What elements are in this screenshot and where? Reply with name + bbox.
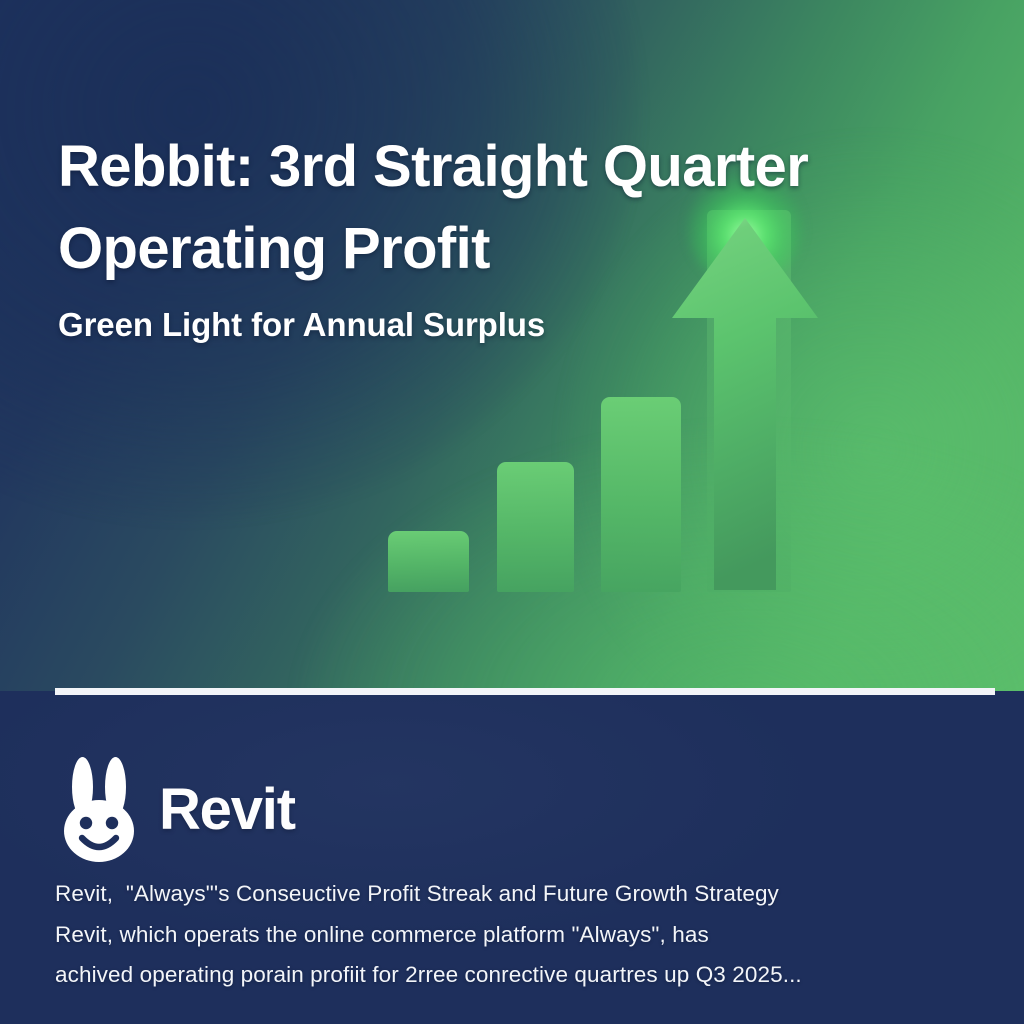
article-body-line-2: achived operating porain profiit for 2rr…: [55, 960, 945, 990]
section-divider: [55, 688, 995, 695]
hero-text-block: Rebbit: 3rd Straight Quarter Operating P…: [58, 126, 938, 344]
bunny-icon: [53, 755, 145, 865]
footer-panel: Revit Revit, "Always"'s Conseuctive Prof…: [0, 691, 1024, 1024]
brand-name: Revit: [159, 781, 295, 839]
chart-bar-q2-2025: [601, 397, 681, 592]
hero-green-bloom-bottom: [300, 431, 1024, 691]
article-summary: Revit, "Always"'s Conseuctive Profit Str…: [55, 879, 945, 990]
news-graphic-card: Rebbit: 3rd Straight Quarter Operating P…: [0, 0, 1024, 1024]
page-title: Rebbit: 3rd Straight Quarter Operating P…: [58, 126, 938, 291]
article-headline-line: Revit, "Always"'s Conseuctive Profit Str…: [55, 879, 945, 909]
chart-bar-q1-2025: [497, 462, 574, 592]
brand-lockup[interactable]: Revit: [53, 755, 295, 865]
article-body-line-1: Revit, which operats the online commerce…: [55, 920, 945, 950]
page-subtitle: Green Light for Annual Surplus: [58, 305, 938, 345]
chart-bar-q4-2024: [388, 531, 469, 592]
hero-panel: Rebbit: 3rd Straight Quarter Operating P…: [0, 0, 1024, 691]
